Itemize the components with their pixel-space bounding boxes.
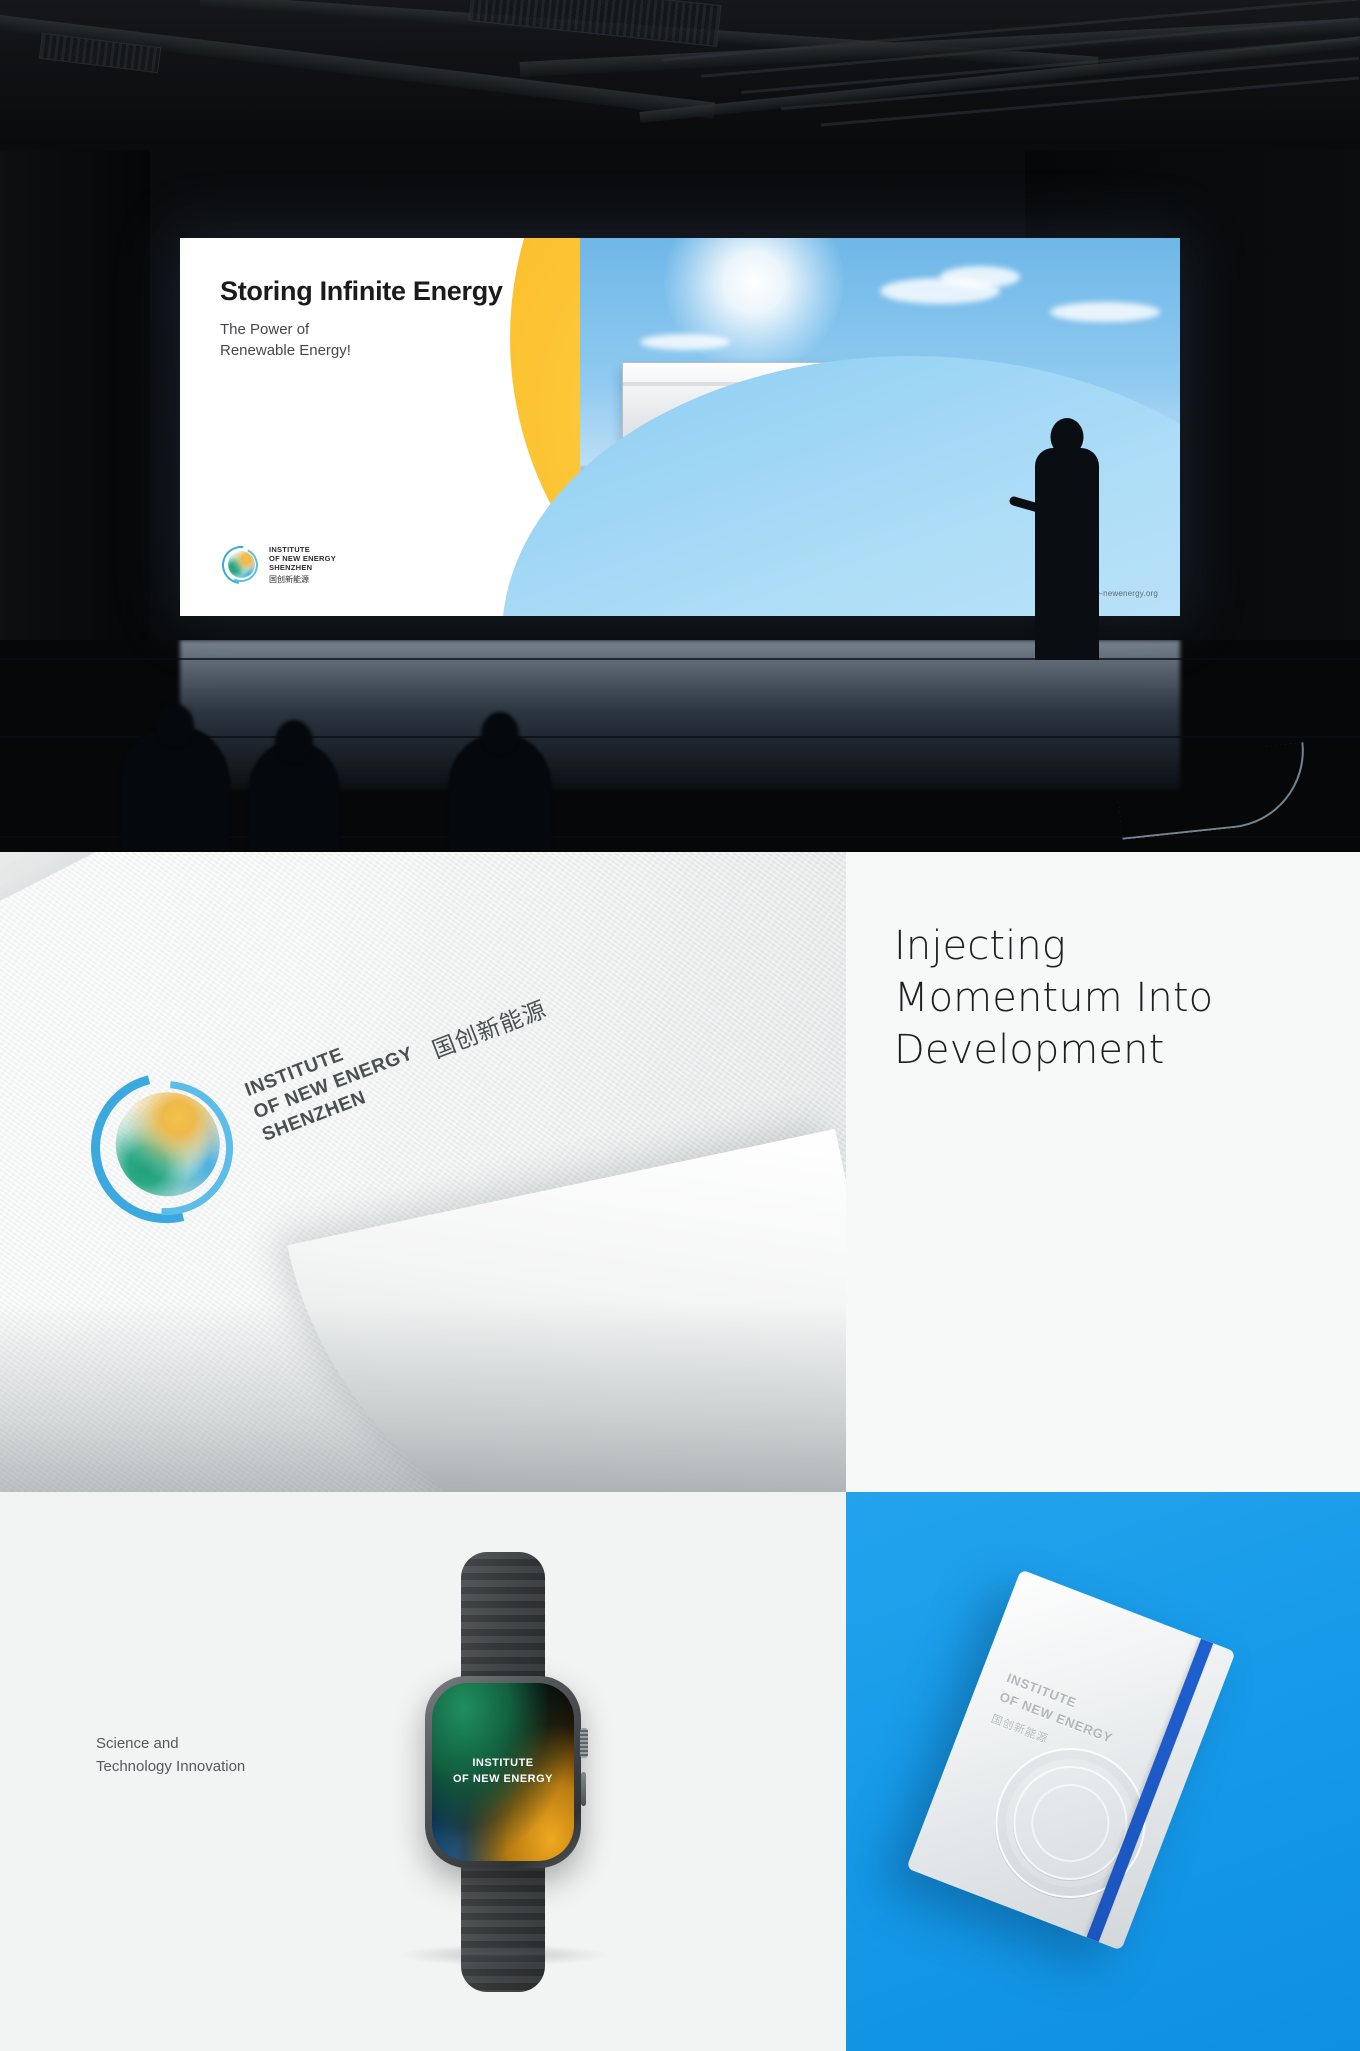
auditorium-mockup-section: Storing Infinite Energy The Power of Ren… — [0, 0, 1360, 852]
silhouette-head — [275, 720, 313, 764]
slide-logo-text: INSTITUTE OF NEW ENERGY SHENZHEN 国创新能源 — [269, 546, 336, 584]
watch-line-institute: INSTITUTE — [453, 1756, 553, 1772]
paper-logo-section: INSTITUTE OF NEW ENERGY SHENZHEN 国创新能源 I… — [0, 852, 1360, 1492]
watch-caption: Science and Technology Innovation — [96, 1732, 326, 1779]
silhouette-head — [481, 712, 519, 756]
audience-silhouette — [448, 734, 552, 852]
logo-line-chinese: 国创新能源 — [269, 575, 336, 584]
ceiling-vent-grill — [468, 0, 721, 47]
logo-line-shenzhen: SHENZHEN — [269, 564, 336, 573]
floor-seam — [0, 658, 1360, 660]
watch-screen[interactable]: INSTITUTE OF NEW ENERGY — [432, 1683, 574, 1861]
heading-pane: Injecting Momentum Into Development — [846, 852, 1360, 1492]
institute-logo-icon — [222, 546, 260, 584]
watch-case: INSTITUTE OF NEW ENERGY — [425, 1676, 581, 1868]
paper-logo-text: INSTITUTE OF NEW ENERGY SHENZHEN — [242, 1020, 426, 1148]
watch-mockup-pane: Science and Technology Innovation INSTIT… — [0, 1492, 846, 2051]
watch-line-of-new-energy: OF NEW ENERGY — [453, 1772, 553, 1788]
logo-arc-inner — [219, 543, 263, 587]
smartwatch-mockup: INSTITUTE OF NEW ENERGY — [418, 1552, 588, 1992]
photo-cloud — [940, 266, 1020, 288]
watch-face-text: INSTITUTE OF NEW ENERGY — [453, 1756, 553, 1787]
product-mockups-section: Science and Technology Innovation INSTIT… — [0, 1492, 1360, 2051]
slide-title: Storing Infinite Energy — [220, 276, 550, 307]
slide-logo-lockup: INSTITUTE OF NEW ENERGY SHENZHEN 国创新能源 — [222, 546, 336, 584]
audience-silhouette — [120, 726, 230, 852]
photo-cloud — [640, 334, 730, 350]
paper-mockup: INSTITUTE OF NEW ENERGY SHENZHEN 国创新能源 — [0, 852, 846, 1492]
stage-floor — [0, 640, 1360, 852]
watch-crown-icon[interactable] — [580, 1728, 588, 1758]
silhouette-head — [156, 704, 194, 748]
presenter-silhouette — [1035, 448, 1099, 660]
watch-side-button[interactable] — [581, 1772, 586, 1806]
notebook-mockup-pane: INSTITUTE OF NEW ENERGY 国创新能源 — [846, 1492, 1360, 2051]
slide-subtitle: The Power of Renewable Energy! — [220, 320, 490, 361]
paper-drop-shadow — [0, 1302, 846, 1492]
audience-silhouette — [248, 742, 340, 852]
wall-left — [0, 150, 150, 640]
photo-cloud — [1050, 302, 1160, 322]
notebook-mockup: INSTITUTE OF NEW ENERGY 国创新能源 — [906, 1569, 1235, 1950]
watch-drop-shadow — [398, 1944, 608, 1966]
section-heading: Injecting Momentum Into Development — [894, 920, 1214, 1076]
logo-line-chinese: 国创新能源 — [426, 990, 550, 1065]
led-screen-slide: Storing Infinite Energy The Power of Ren… — [180, 238, 1180, 616]
